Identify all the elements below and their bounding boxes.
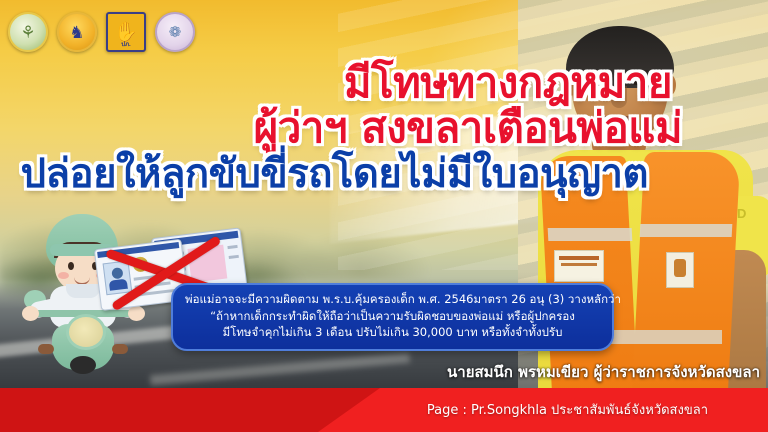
poster-root: ⚘ ♞ ✋ ปภ. ❁ LD — [0, 0, 768, 432]
emblem-songkhla-province-icon: ♞ — [57, 12, 97, 52]
emblem-2-glyph: ♞ — [59, 14, 95, 50]
footer-bar: Page : Pr.Songkhla ประชาสัมพันธ์จังหวัดส… — [0, 388, 768, 432]
vest-emblem-patch — [666, 252, 694, 288]
emblem-royal-thai-police-icon: ✋ ปภ. — [106, 12, 146, 52]
law-citation-box: พ่อแม่อาจจะมีความผิดตาม พ.ร.บ.คุ้มครองเด… — [171, 283, 614, 351]
rider-blush-left — [58, 272, 69, 279]
vest-name-badge — [554, 250, 604, 282]
vest-reflective-stripe-1 — [548, 228, 633, 241]
license-back-line-4 — [227, 245, 237, 249]
governor-attribution: นายสมนึก พรหมเขียว ผู้ว่าราชการจังหวัดสง… — [0, 360, 760, 384]
emblem-3-sublabel: ปภ. — [108, 39, 144, 49]
rider-foot-right — [112, 344, 128, 354]
rider-eye-left — [68, 262, 74, 270]
emblem-garuda-provincial-icon: ⚘ — [8, 12, 48, 52]
scooter-headlamp — [66, 314, 106, 350]
law-text-line-1: พ่อแม่อาจจะมีความผิดตาม พ.ร.บ.คุ้มครองเด… — [185, 291, 600, 308]
vest-reflective-stripe-2 — [640, 224, 733, 237]
agency-emblem-row: ⚘ ♞ ✋ ปภ. ❁ — [8, 12, 195, 52]
rider-collar — [66, 284, 100, 298]
badge-line-1 — [559, 256, 599, 260]
footer-page-credit: Page : Pr.Songkhla ประชาสัมพันธ์จังหวัดส… — [427, 399, 708, 420]
rider-foot-left — [38, 344, 54, 354]
headline-line-2: ผู้ว่าฯ สงขลาเตือนพ่อแม่ — [0, 107, 682, 150]
rider-hand-left — [22, 306, 39, 321]
vest-emblem-patch-glyph — [674, 259, 686, 277]
license-back-line-5 — [229, 255, 239, 259]
headline-line-3: ปล่อยให้ลูกขับขี่รถโดยไม่มีใบอนุญาต — [0, 154, 648, 195]
emblem-public-relations-department-icon: ❁ — [155, 12, 195, 52]
headline-block: มีโทษทางกฎหมาย ผู้ว่าฯ สงขลาเตือนพ่อแม่ … — [0, 62, 720, 194]
badge-line-2 — [561, 263, 597, 266]
law-text-line-2: “ถ้าหากเด็กกระทำผิดให้ถือว่าเป็นความรับผ… — [185, 308, 600, 325]
emblem-1-glyph: ⚘ — [10, 14, 46, 50]
emblem-4-glyph: ❁ — [157, 14, 193, 50]
headline-line-1: มีโทษทางกฎหมาย — [0, 62, 672, 105]
law-text-line-3: มีโทษจำคุกไม่เกิน 3 เดือน ปรับไม่เกิน 30… — [185, 324, 600, 341]
